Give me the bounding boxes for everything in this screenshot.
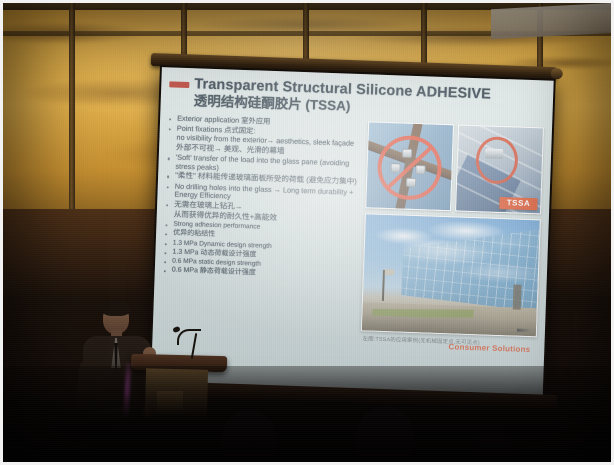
presentation-slide: Transparent Structural Silicone ADHESIVE…	[151, 67, 554, 400]
slide-footer: 左图:TSSA的应用案例(无机械固定点,无可见点) Consumer Solut…	[360, 334, 537, 358]
building-entrance	[512, 284, 522, 310]
ceiling-sliver	[491, 3, 611, 39]
projection-screen: Transparent Structural Silicone ADHESIVE…	[149, 65, 556, 403]
photo-tssa-bonded-fitting: TSSA	[455, 124, 544, 214]
flag	[385, 269, 394, 275]
title-accent-bar	[169, 81, 189, 88]
slide-bullet-list: Exterior application 室外应用 Point fixation…	[163, 114, 364, 281]
conference-photograph: Transparent Structural Silicone ADHESIVE…	[0, 0, 614, 465]
slide-title-wrap: Transparent Structural Silicone ADHESIVE…	[193, 77, 545, 121]
microphone-icon	[177, 329, 201, 345]
photo-point-fixing-crossed-out	[365, 121, 454, 211]
prohibition-icon	[377, 134, 443, 200]
wall-mullion	[69, 3, 75, 218]
presenter-hair	[102, 301, 130, 316]
slide-image-column: TSSA	[360, 121, 544, 358]
slide-body: Exterior application 室外应用 Point fixation…	[160, 114, 544, 358]
photo-corner-mark	[517, 328, 531, 331]
brand-wordmark: Consumer Solutions	[448, 342, 530, 354]
tssa-badge: TSSA	[499, 197, 537, 210]
screen-surface: Transparent Structural Silicone ADHESIVE…	[151, 67, 554, 400]
photo-glass-building-facade	[361, 213, 541, 337]
foreground-shadow	[3, 412, 614, 462]
slide-bullet-column: Exterior application 室外应用 Point fixation…	[160, 114, 364, 352]
slide-photo-pair: TSSA	[365, 121, 544, 214]
